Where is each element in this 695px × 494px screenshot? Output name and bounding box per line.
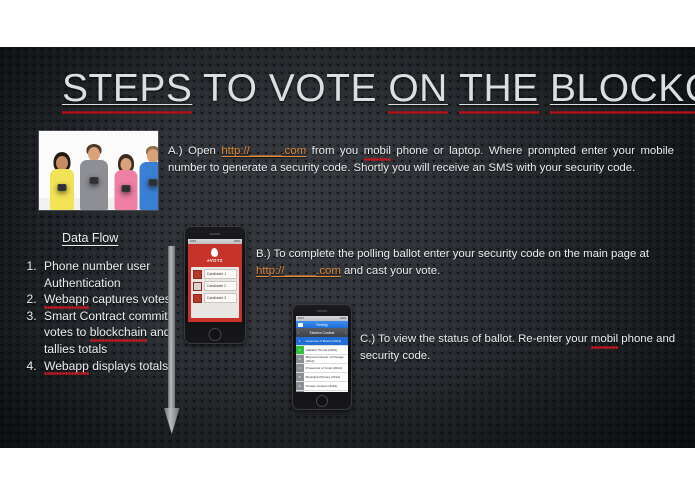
phone-speaker [317,310,328,312]
dataflow-item-misspelled-word: blockchain [90,324,147,341]
candidate-checkbox[interactable] [193,282,202,291]
contest-title: Election Contest [310,331,335,335]
head [56,156,68,170]
result-rank: 1 [296,337,304,345]
flame-logo-icon [211,248,219,258]
step-a-paragraph: A.) Open http://_____.com from you mobil… [168,143,674,176]
held-phone [149,179,158,186]
down-arrow-icon [162,246,182,443]
title-segment-4: THE [459,66,539,112]
carrier-label: AT&T [190,240,196,243]
person-2 [79,144,109,210]
result-label: Caddick Thoma (2014) [304,348,349,352]
submit-vote-button[interactable]: Submit [191,321,240,322]
menu-icon[interactable] [298,323,303,327]
dataflow-item-text: Phone number user Authentication [44,259,150,290]
voting-app: eVOTZ Candidate 1Candidate 2Candidate 3 … [188,244,243,322]
candidate-row[interactable]: Candidate 3 [193,293,238,303]
candidate-label[interactable]: Candidate 3 [204,293,238,303]
home-button[interactable] [316,395,328,407]
home-button[interactable] [209,328,222,341]
title-segment-5 [539,67,550,110]
title-segment-1: TO VOTE [192,67,388,110]
candidate-row[interactable]: Candidate 1 [193,269,238,279]
step-c-misspelled-word: mobil [591,331,618,348]
candidate-checkbox[interactable] [193,294,202,303]
person-1 [49,152,75,210]
app-nav-bar: Evoting [296,321,349,328]
result-row[interactable]: 4Prosecutor of Cook (2014) [296,364,349,373]
step-b-url-link[interactable]: http://_____.com [256,265,341,277]
battery-label: 100% [234,240,241,243]
result-label: Trustee Contest (2014) [304,384,349,388]
people-with-phones-photo [38,130,159,211]
result-rank: 2 [296,346,304,354]
next-icon[interactable]: › [345,330,346,335]
step-a-url-link[interactable]: http://_____.com [221,145,306,157]
step-b-rest: and cast your vote. [341,265,440,277]
head [88,147,100,161]
result-label: Municipal Primary (2014) [304,375,349,379]
result-row[interactable]: 7Park Memorial Referendum (2014) [296,391,349,392]
result-label: Mayoral Contest of Chicago (2014) [304,355,349,363]
phone-screen: AT&T 100% eVOTZ Candidate 1Candidate 2Ca… [188,239,243,322]
results-app: Evoting ‹ Election Contest › 1Governor o… [296,321,349,392]
title-segment-2: ON [388,66,448,112]
page-title: STEPS TO VOTE ON THE BLOCKCHAIN. [62,66,695,112]
dataflow-item-text: captures votes [89,292,171,306]
candidate-label[interactable]: Candidate 2 [204,281,238,291]
dataflow-item-misspelled-word: Webapp [44,291,89,308]
result-label: Prosecutor of Cook (2014) [304,366,349,370]
step-c-prefix: C.) To view the status of ballot. Re-ent… [360,333,591,345]
result-label: Park Memorial Referendum (2014) [304,391,349,392]
dataflow-item-text: displays totals [89,359,168,373]
result-rank: 7 [296,391,304,392]
step-a-misspelled-word: mobil [364,143,391,160]
result-row[interactable]: 2Caddick Thoma (2014) [296,346,349,355]
result-rank: 6 [296,382,304,390]
dataflow-item-misspelled-word: Webapp [44,358,89,375]
result-row[interactable]: 5Municipal Primary (2014) [296,373,349,382]
phone-screen: AT&T 100% Evoting ‹ Election Contest › 1… [296,316,349,392]
results-app-phone: AT&T 100% Evoting ‹ Election Contest › 1… [292,304,352,410]
carrier-label: AT&T [298,317,304,320]
candidate-list: Candidate 1Candidate 2Candidate 3 [191,267,240,318]
held-phone [122,185,131,192]
candidate-row[interactable]: Candidate 2 [193,281,238,291]
shirt [80,160,108,210]
candidate-checkbox[interactable] [193,270,202,279]
shirt [140,162,160,210]
title-segment-3 [448,67,459,110]
head [147,149,159,163]
title-segment-6: BLOCKCHAIN. [550,66,695,112]
candidate-label[interactable]: Candidate 1 [204,269,238,279]
slide-canvas: STEPS TO VOTE ON THE BLOCKCHAIN. [0,0,695,494]
step-a-mid: from you [306,145,364,157]
step-b-paragraph: B.) To complete the polling ballot enter… [256,246,676,279]
step-c-paragraph: C.) To view the status of ballot. Re-ent… [360,331,680,364]
result-rank: 4 [296,364,304,372]
result-row[interactable]: 3Mayoral Contest of Chicago (2014) [296,355,349,364]
held-phone [90,177,99,184]
result-row[interactable]: 6Trustee Contest (2014) [296,382,349,391]
previous-icon[interactable]: ‹ [298,330,299,335]
step-b-prefix: B.) To complete the polling ballot enter… [256,248,649,260]
result-label: Governor of Illinois (2014) [304,339,349,343]
dataflow-heading: Data Flow [62,231,118,245]
held-phone [58,184,67,191]
person-3 [113,154,139,210]
results-rows: 1Governor of Illinois (2014)2Caddick Tho… [296,337,349,392]
step-a-prefix: A.) Open [168,145,221,157]
result-rank: 5 [296,373,304,381]
result-row[interactable]: 1Governor of Illinois (2014) [296,337,349,346]
phone-speaker [209,233,220,235]
nav-title: Evoting [316,323,327,327]
battery-label: 100% [340,317,347,320]
voting-app-phone: AT&T 100% eVOTZ Candidate 1Candidate 2Ca… [184,226,246,344]
result-rank: 3 [296,355,304,363]
app-brand: eVOTZ [188,244,243,267]
person-4 [139,146,159,210]
title-segment-0: STEPS [62,66,192,112]
contest-header: ‹ Election Contest › [296,328,349,337]
app-brand-label: eVOTZ [207,258,223,263]
